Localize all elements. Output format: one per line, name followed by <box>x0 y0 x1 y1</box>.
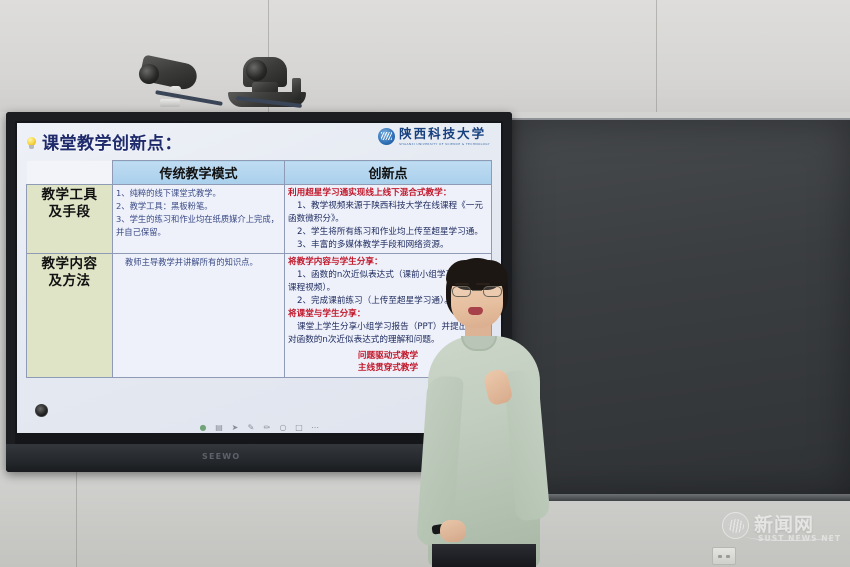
eyeglasses-icon <box>451 286 503 298</box>
hand-lower <box>440 520 466 542</box>
eyebrow <box>455 283 469 285</box>
wall-seam <box>76 470 77 567</box>
panel-brand-label: SEEWO <box>202 452 240 461</box>
watermark: 新闻网 SUST NEWS NET <box>722 512 814 539</box>
lecturer <box>414 258 564 567</box>
wall-seam <box>656 0 657 112</box>
wall-power-outlet <box>712 547 736 565</box>
skirt <box>432 544 536 567</box>
watermark-en: SUST NEWS NET <box>758 534 841 543</box>
eyebrow <box>476 283 490 285</box>
back-wall-upper <box>0 0 850 112</box>
news-globe-icon <box>722 512 749 539</box>
camera-lens-icon <box>246 60 267 81</box>
camera-lens-icon <box>139 64 159 84</box>
mouth <box>468 307 483 315</box>
classroom-scene: 课堂教学创新点： 陕西科技大学 SHAANXI UNIVERSITY OF SC… <box>0 0 850 567</box>
